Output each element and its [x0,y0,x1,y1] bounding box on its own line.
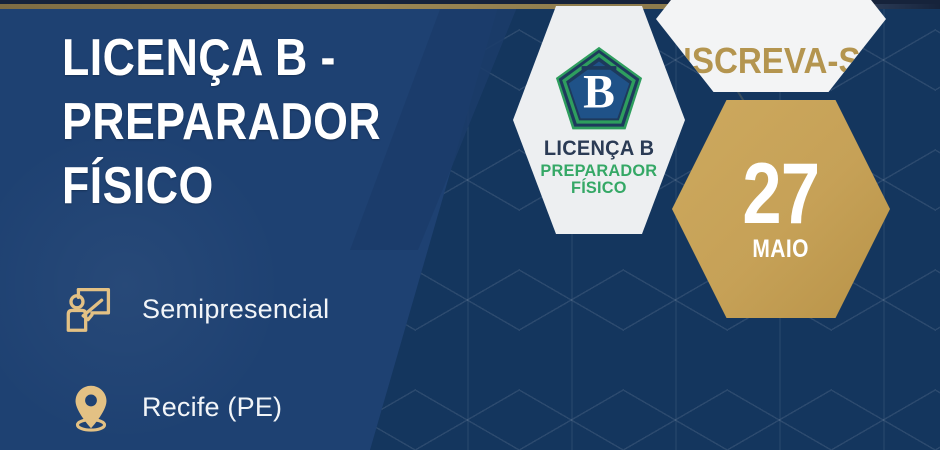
info-row-modality: Semipresencial [62,280,329,338]
info-row-location: Recife (PE) [62,378,282,436]
licenca-b-pentagon-logo-icon: B [553,45,645,133]
logo-subtitle-text: PREPARADOR FÍSICO [541,162,658,196]
title-line-3: FÍSICO [62,154,423,218]
title-line-1: LICENÇA B - [62,26,423,90]
title-line-2: PREPARADOR [62,90,423,154]
logo-subtitle-line-1: PREPARADOR [541,162,658,179]
info-label-modality: Semipresencial [142,294,329,325]
presenter-board-icon [62,280,120,338]
info-label-location: Recife (PE) [142,392,282,423]
svg-text:B: B [583,66,615,118]
banner-title: LICENÇA B - PREPARADOR FÍSICO [62,26,423,218]
event-banner: LICENÇA B - PREPARADOR FÍSICO Semipresen… [0,0,940,450]
logo-name-text: LICENÇA B [544,138,654,160]
logo-subtitle-line-2: FÍSICO [541,179,658,196]
location-pin-icon [62,378,120,436]
event-date-day: 27 [743,156,820,232]
event-date-month: MAIO [753,236,810,262]
